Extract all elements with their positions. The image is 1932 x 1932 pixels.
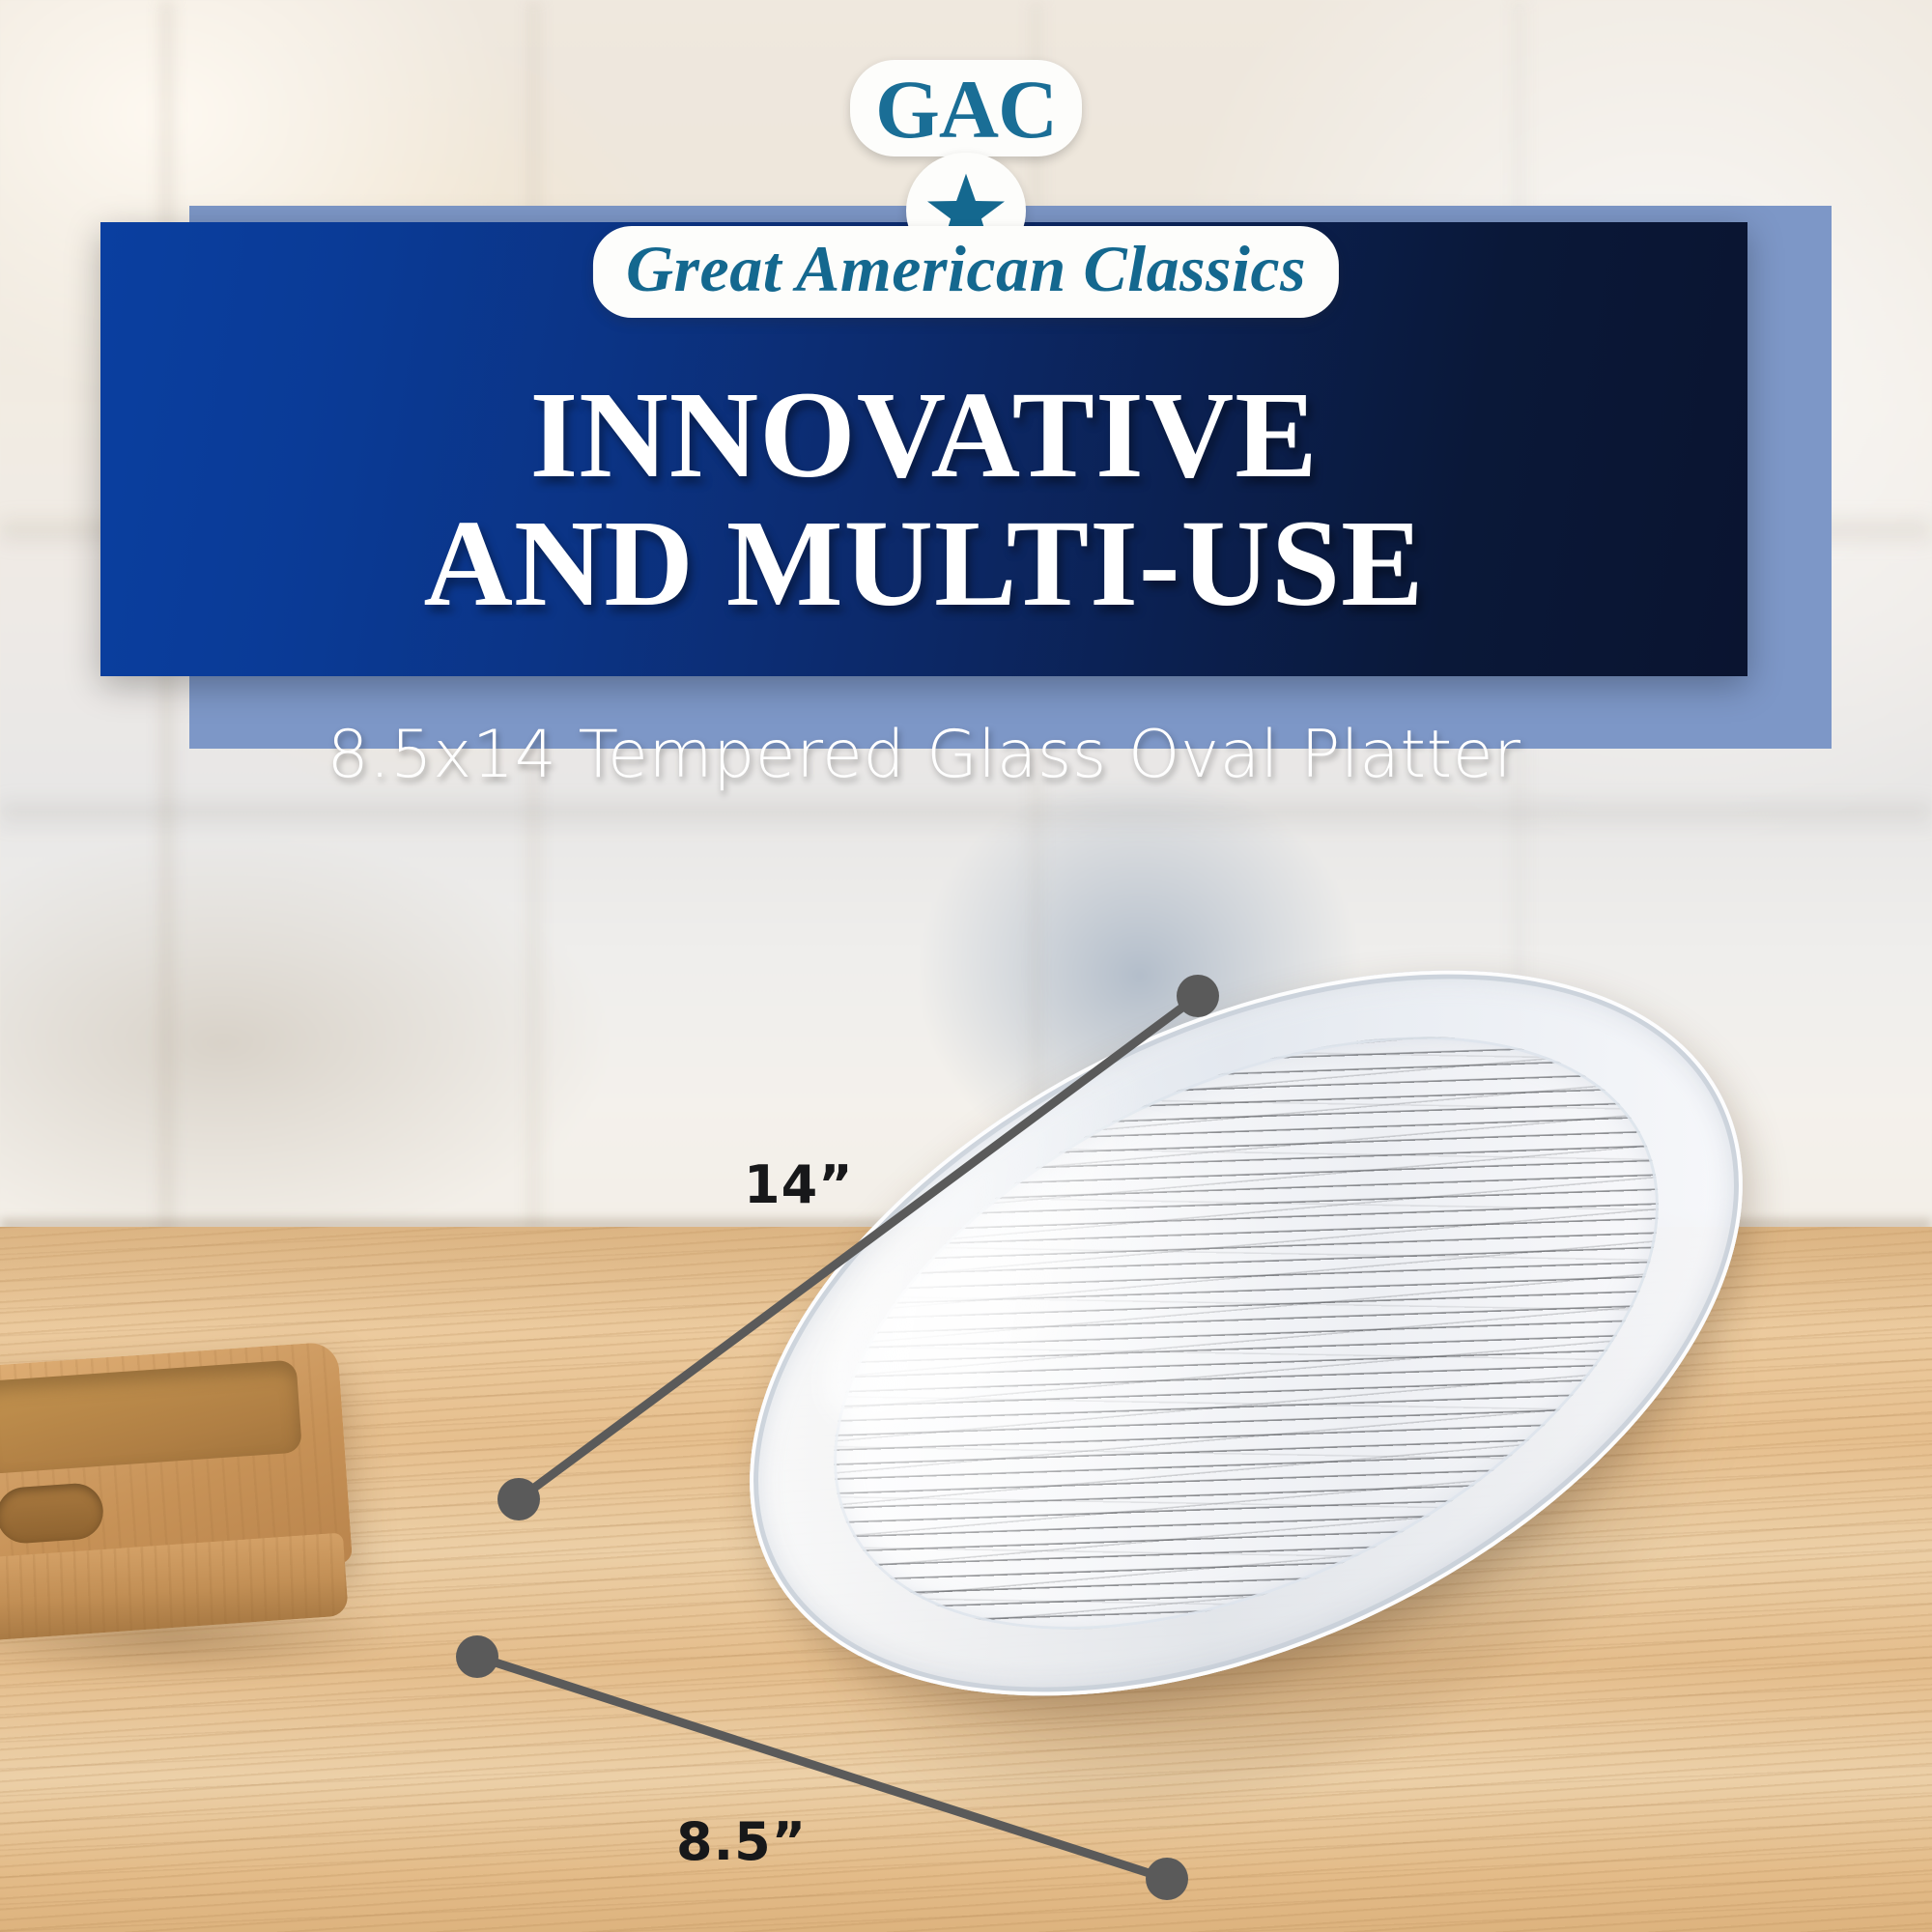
brand-logo: GAC Great American Classics <box>0 60 1932 156</box>
headline-block: INNOVATIVE AND MULTI-USE <box>100 371 1747 628</box>
glass-oval-platter <box>715 1024 1816 1797</box>
subheadline-block: 8.5x14 Tempered Glass Oval Platter <box>100 721 1747 789</box>
brand-script-name: Great American Classics <box>626 232 1306 305</box>
marketing-image-canvas: INNOVATIVE AND MULTI-USE 8.5x14 Tempered… <box>0 0 1932 1932</box>
subheadline-text: 8.5x14 Tempered Glass Oval Platter <box>100 721 1747 789</box>
brand-script-badge: Great American Classics <box>593 226 1339 318</box>
headline-line-2: AND MULTI-USE <box>100 499 1747 628</box>
bamboo-tray-handle <box>0 1482 105 1546</box>
brand-monogram: GAC <box>850 60 1082 156</box>
headline-line-1: INNOVATIVE <box>100 371 1747 499</box>
bamboo-tray <box>0 1341 357 1657</box>
